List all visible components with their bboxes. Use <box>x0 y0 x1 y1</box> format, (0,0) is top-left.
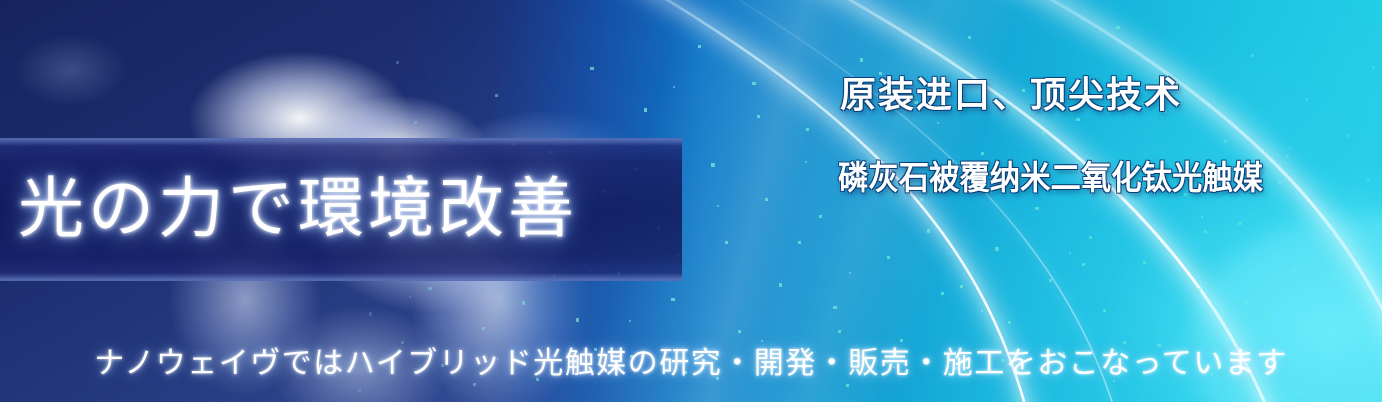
hero-banner: 光の力で環境改善 原装进口、顶尖技术 磷灰石被覆纳米二氧化钛光触媒 ナノウェイヴ… <box>0 0 1382 402</box>
subheadline-chinese: 磷灰石被覆纳米二氧化钛光触媒 <box>838 157 1263 199</box>
headline-japanese: 光の力で環境改善 <box>18 158 678 258</box>
headline-chinese: 原装进口、顶尖技术 <box>840 72 1182 118</box>
tagline-japanese: ナノウェイヴではハイブリッド光触媒の研究・開発・販売・施工をおこなっています <box>0 344 1382 384</box>
